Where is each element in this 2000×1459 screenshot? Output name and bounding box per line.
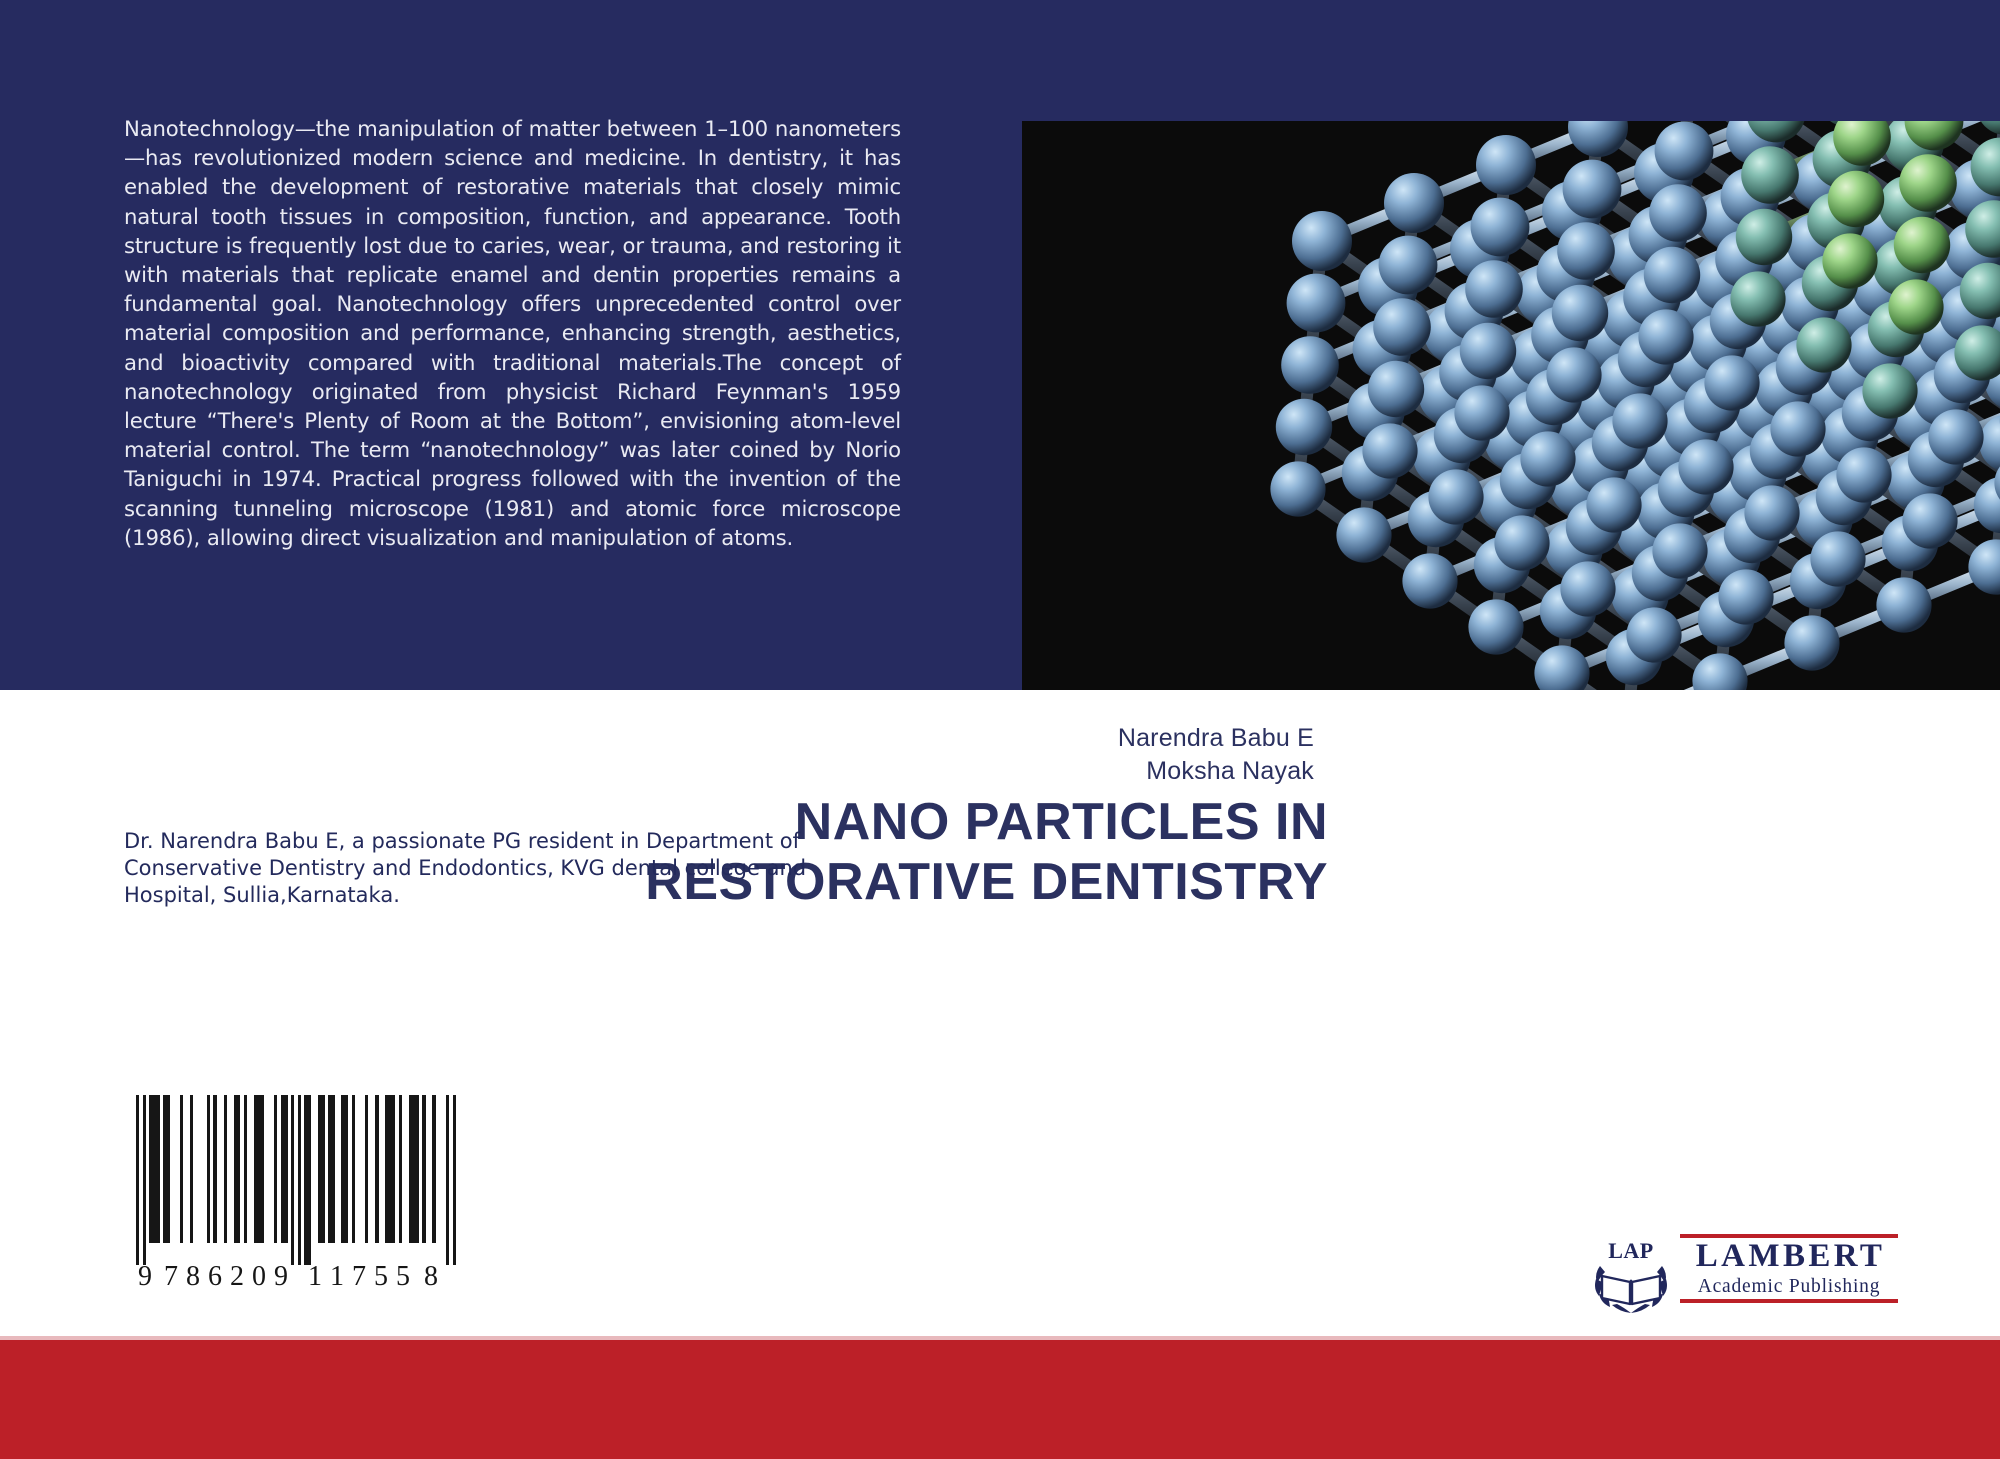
barcode-bar: [446, 1095, 449, 1265]
lattice-atom: [1428, 469, 1483, 524]
lap-book-laurel-icon: LAP: [1588, 1232, 1674, 1316]
barcode-bar: [244, 1095, 247, 1243]
author-name-2: Moksha Nayak: [674, 755, 1314, 788]
barcode-bar: [304, 1095, 311, 1265]
author-bio: Dr. Narendra Babu E, a passionate PG res…: [124, 828, 904, 909]
barcode-bar: [409, 1095, 419, 1243]
barcode-bar: [143, 1095, 146, 1265]
lattice-atom: [1560, 561, 1615, 616]
lattice-atom: [1626, 607, 1681, 662]
barcode-bar: [352, 1095, 355, 1243]
barcode-bar: [163, 1095, 170, 1243]
barcode-bar: [399, 1095, 402, 1243]
lattice-atom: [1384, 173, 1444, 233]
front-cover-authors: Narendra Babu E Moksha Nayak: [674, 722, 1314, 788]
barcode-digit: 9: [138, 1261, 152, 1293]
lattice-atom: [1336, 507, 1391, 562]
lattice-atom: [1928, 409, 1983, 464]
lattice-atom: [1770, 401, 1825, 456]
barcode-bar: [365, 1095, 368, 1243]
lattice-atom: [1465, 260, 1523, 318]
barcode-digit: 5: [374, 1261, 388, 1293]
barcode-bar: [180, 1095, 183, 1243]
lattice-atom: [1287, 274, 1346, 333]
barcode-bar: [298, 1095, 301, 1265]
lattice-atom: [1520, 431, 1575, 486]
lattice-atom: [1649, 184, 1707, 242]
barcode-bar: [453, 1095, 456, 1265]
lattice-atom: [1902, 493, 1957, 548]
lattice-atom: [1460, 323, 1516, 379]
lattice-atom: [1741, 146, 1799, 204]
book-cover: Nanotechnology—the manipulation of matte…: [0, 0, 2000, 1459]
lattice-atom: [1894, 217, 1950, 273]
barcode-digit: 1: [308, 1261, 322, 1293]
barcode-bars: [136, 1095, 456, 1265]
barcode-bar: [234, 1095, 241, 1243]
barcode-digits: 9786209117558: [136, 1261, 456, 1295]
lattice-atom: [1862, 363, 1917, 418]
barcode-bar: [341, 1095, 348, 1243]
barcode-bar: [207, 1095, 210, 1243]
lattice-atom: [1796, 317, 1851, 372]
publisher-logo: LAP LAMBERT Academic Publishing: [1588, 1232, 1898, 1316]
barcode-digit: 5: [396, 1261, 410, 1293]
barcode-bar: [281, 1095, 288, 1243]
cover-photo-crystal-lattice: [1022, 121, 2000, 690]
lattice-atom: [1652, 523, 1707, 578]
barcode-digit: 1: [330, 1261, 344, 1293]
lap-emblem-icon: LAP: [1588, 1232, 1674, 1316]
lattice-atom: [1730, 271, 1785, 326]
lattice-atom: [1454, 385, 1509, 440]
barcode-digit: 6: [208, 1261, 222, 1293]
lattice-atom: [1494, 515, 1549, 570]
barcode-bar: [375, 1095, 378, 1243]
author-name-1: Narendra Babu E: [674, 722, 1314, 755]
barcode-bar: [136, 1095, 139, 1265]
barcode-digit: 2: [230, 1261, 244, 1293]
lattice-atom: [1557, 222, 1615, 280]
lattice-atom: [1468, 599, 1523, 654]
barcode-digit: 8: [424, 1261, 438, 1293]
barcode-bar: [224, 1095, 227, 1243]
barcode-bar: [213, 1095, 216, 1243]
lattice-atom: [1876, 577, 1931, 632]
barcode-bar: [432, 1095, 435, 1243]
lattice-atom: [1362, 423, 1417, 478]
lattice-atom: [1373, 298, 1431, 356]
lattice-atom: [1471, 198, 1530, 257]
lattice-atom: [1718, 569, 1773, 624]
barcode-bar: [318, 1095, 325, 1243]
lattice-atom: [1292, 211, 1352, 271]
publisher-name: LAMBERT: [1680, 1238, 1898, 1275]
svg-text:LAP: LAP: [1608, 1238, 1654, 1263]
top-navy-strip: [1029, 0, 2000, 121]
lattice-atom: [1678, 439, 1733, 494]
barcode-bar: [328, 1095, 335, 1243]
lattice-atom: [1822, 233, 1877, 288]
back-cover-blurb: Nanotechnology—the manipulation of matte…: [124, 114, 901, 552]
lattice-atom: [1276, 399, 1332, 455]
wordmark-rule-bottom: [1680, 1299, 1898, 1303]
lattice-atom: [1836, 447, 1891, 502]
lattice-atom: [1281, 336, 1339, 394]
publisher-tagline: Academic Publishing: [1680, 1275, 1898, 1299]
barcode-bar: [291, 1095, 294, 1265]
lattice-atom: [1736, 209, 1792, 265]
lattice-atom: [1704, 355, 1759, 410]
lattice-atom: [1368, 361, 1424, 417]
barcode-bar: [422, 1095, 425, 1243]
lattice-atom: [1638, 309, 1693, 364]
lattice-atom: [1784, 615, 1839, 670]
lattice-atom: [1744, 485, 1799, 540]
barcode-digit: 9: [274, 1261, 288, 1293]
barcode-digit: 7: [352, 1261, 366, 1293]
lattice-atom: [1563, 160, 1622, 219]
lattice-atom: [1888, 279, 1943, 334]
lattice-atom: [1644, 247, 1700, 303]
lattice-atom: [1552, 285, 1608, 341]
lattice-illustration: [1022, 121, 2000, 690]
lattice-atom: [1828, 171, 1884, 227]
barcode-bar: [385, 1095, 395, 1243]
barcode-bar: [274, 1095, 277, 1243]
lattice-atom: [1586, 477, 1641, 532]
lattice-atom: [1612, 393, 1667, 448]
barcode-digit: 7: [164, 1261, 178, 1293]
barcode-bar: [254, 1095, 264, 1243]
lattice-atom: [1810, 531, 1865, 586]
lattice-atom: [1655, 122, 1714, 181]
bottom-red-bar: [0, 1340, 2000, 1459]
barcode-digit: 8: [186, 1261, 200, 1293]
barcode-bar: [149, 1095, 159, 1243]
lattice-atom: [1546, 347, 1601, 402]
isbn-barcode: 9786209117558: [136, 1095, 456, 1295]
barcode-bar: [190, 1095, 193, 1243]
lattice-atom: [1476, 135, 1536, 195]
lattice-atom: [1379, 236, 1438, 295]
lattice-atom: [1899, 154, 1957, 212]
barcode-digit: 0: [252, 1261, 266, 1293]
lattice-atom: [1402, 553, 1457, 608]
lattice-atom: [1270, 461, 1325, 516]
publisher-wordmark: LAMBERT Academic Publishing: [1680, 1234, 1898, 1303]
